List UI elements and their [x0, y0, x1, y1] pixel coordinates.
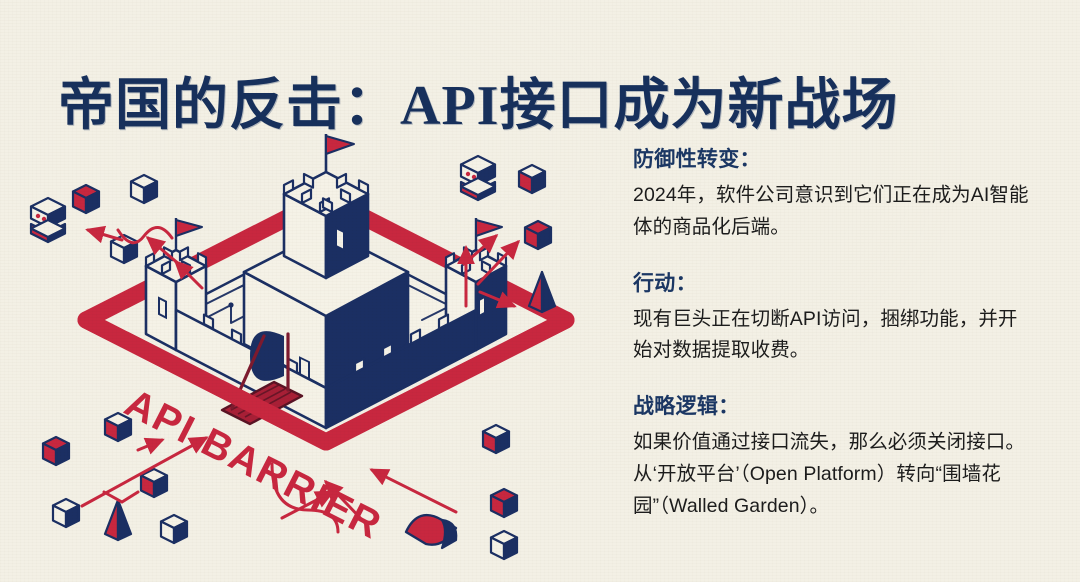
block-3-heading: 战略逻辑： [633, 393, 1033, 421]
content-column: 防御性转变： 2024年，软件公司意识到它们正在成为AI智能体的商品化后端。 行… [633, 146, 1033, 522]
block-1-body: 2024年，软件公司意识到它们正在成为AI智能体的商品化后端。 [633, 180, 1033, 243]
block-1-heading: 防御性转变： [633, 146, 1033, 174]
content-block-3: 战略逻辑： 如果价值通过接口流失，那么必须关闭接口。从‘开放平台’（Open P… [633, 393, 1033, 522]
page-title: 帝国的反击：API接口成为新战场 [58, 74, 898, 138]
castle-illustration: API BARRIER [26, 120, 626, 580]
content-block-1: 防御性转变： 2024年，软件公司意识到它们正在成为AI智能体的商品化后端。 [633, 146, 1033, 244]
block-2-body: 现有巨头正在切断API访问，捆绑功能，并开始对数据提取收费。 [633, 304, 1033, 367]
block-2-heading: 行动： [633, 270, 1033, 298]
block-3-body: 如果价值通过接口流失，那么必须关闭接口。从‘开放平台’（Open Platfor… [633, 427, 1033, 522]
content-block-2: 行动： 现有巨头正在切断API访问，捆绑功能，并开始对数据提取收费。 [633, 270, 1033, 368]
slide-root: 帝国的反击：API接口成为新战场 [0, 0, 1080, 582]
